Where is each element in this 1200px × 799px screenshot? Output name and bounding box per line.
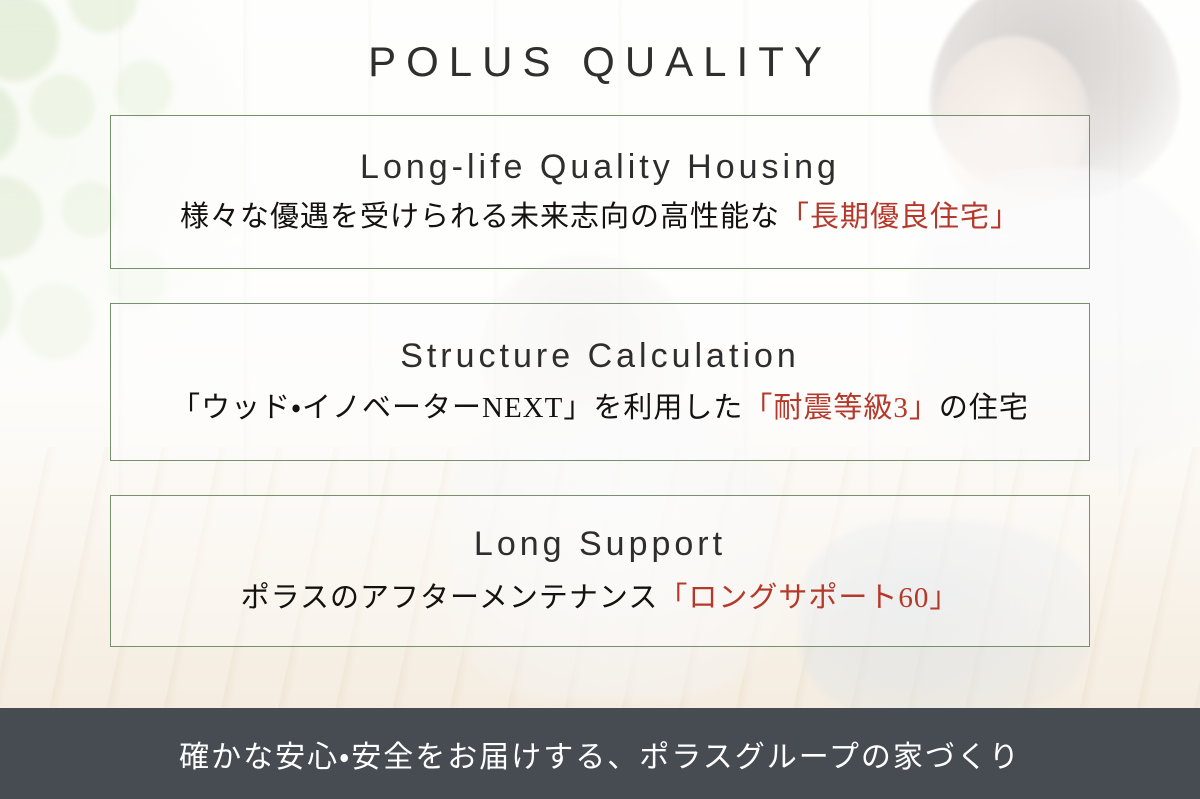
polus-quality-banner: POLUS QUALITY Long-life Quality Housing …	[0, 0, 1200, 799]
card-japanese-lead: ポラスのアフターメンテナンス	[241, 582, 659, 614]
card-japanese-description: ポラスのアフターメンテナンス「ロングサポート60」	[241, 581, 960, 616]
card-japanese-tail: の住宅	[939, 392, 1029, 424]
page-title: POLUS QUALITY	[0, 38, 1200, 86]
card-japanese-description: 「ウッド・イノベーターNEXT」を利用した「耐震等級3」の住宅	[171, 391, 1029, 426]
card-japanese-lead: 様々な優遇を受けられる未来志向の高性能な	[180, 201, 780, 233]
card-english-heading: Structure Calculation	[400, 338, 800, 375]
footer-tagline: 確かな安心・安全をお届けする、ポラスグループの家づくり	[179, 732, 1021, 776]
quality-card-long-support: Long Support ポラスのアフターメンテナンス「ロングサポート60」	[110, 495, 1090, 647]
content-layer: POLUS QUALITY Long-life Quality Housing …	[0, 0, 1200, 799]
footer-bar: 確かな安心・安全をお届けする、ポラスグループの家づくり	[0, 708, 1200, 799]
card-japanese-lead: 「ウッド・イノベーターNEXT」を利用した	[171, 392, 743, 424]
card-japanese-description: 様々な優遇を受けられる未来志向の高性能な「長期優良住宅」	[180, 200, 1020, 235]
card-english-heading: Long-life Quality Housing	[360, 149, 840, 186]
quality-card-structure-calculation: Structure Calculation 「ウッド・イノベーターNEXT」を利…	[110, 303, 1090, 461]
card-japanese-highlight: 「長期優良住宅」	[780, 201, 1020, 233]
card-english-heading: Long Support	[474, 526, 726, 563]
quality-card-long-life-quality-housing: Long-life Quality Housing 様々な優遇を受けられる未来志…	[110, 115, 1090, 269]
card-japanese-highlight: 「ロングサポート60」	[658, 582, 959, 614]
card-japanese-highlight: 「耐震等級3」	[743, 392, 939, 424]
